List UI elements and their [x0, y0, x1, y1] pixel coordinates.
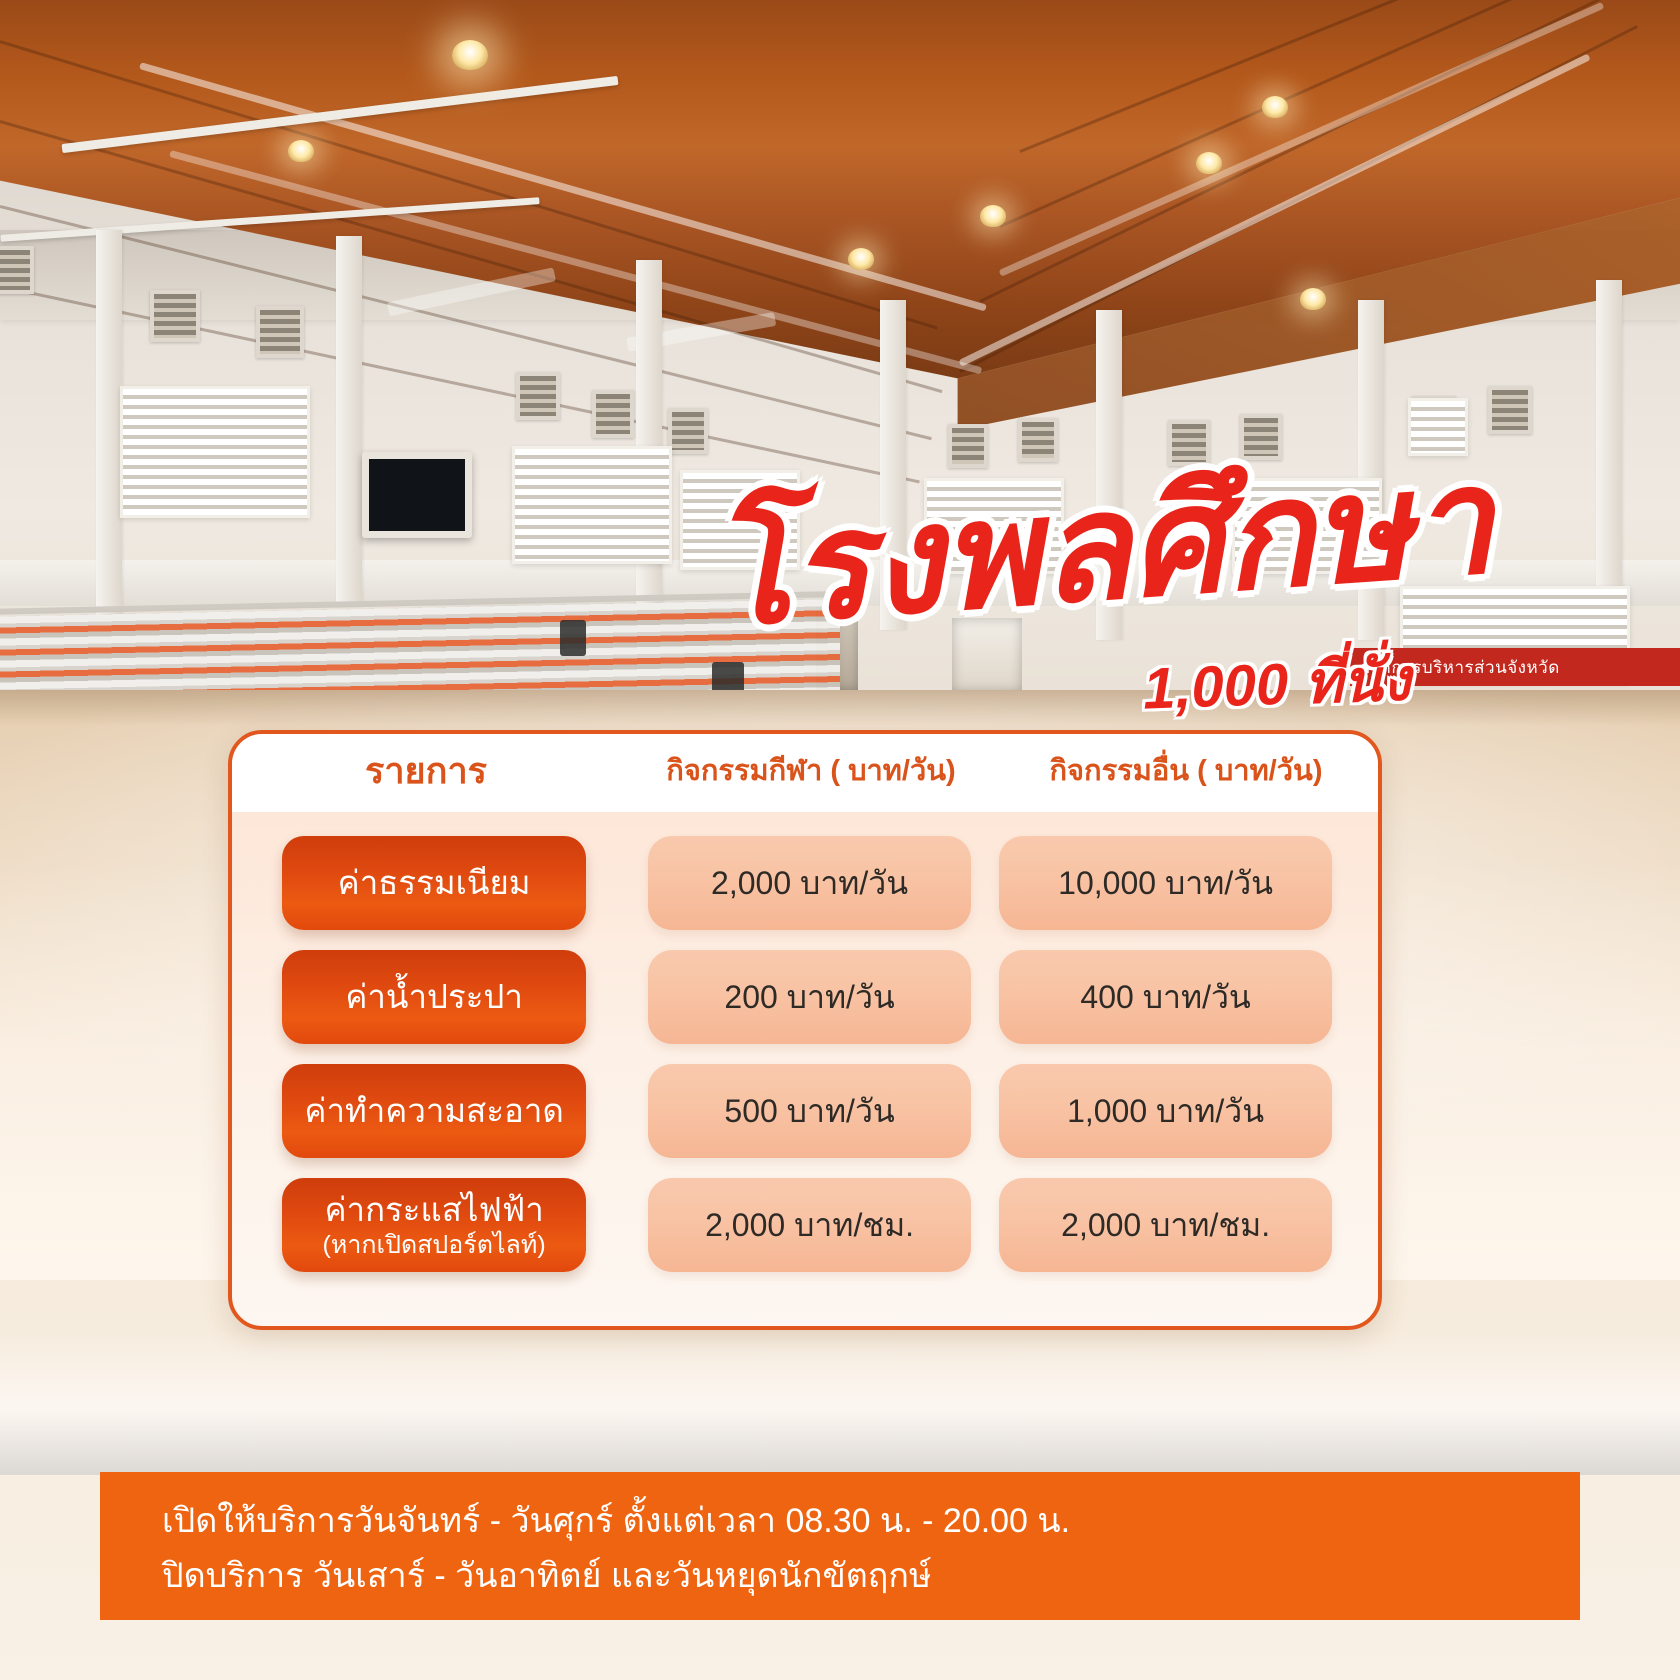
wall-vent — [948, 424, 988, 468]
table-header-sport: กิจกรรมกีฬา ( บาท/วัน) — [626, 747, 996, 793]
wall-vent — [516, 372, 560, 420]
table-header-item: รายการ — [228, 742, 626, 799]
footer-line-open-hours: เปิดให้บริการวันจันทร์ - วันศุกร์ ตั้งแต… — [162, 1494, 1580, 1549]
scoreboard-screen — [362, 452, 472, 538]
ceiling-lamp — [288, 140, 314, 162]
wall-column — [96, 230, 122, 620]
poster-root: องค์การบริหารส่วนจังหวัด โรงพลศึกษา 1,00… — [0, 0, 1680, 1680]
wall-column — [1358, 300, 1384, 640]
table-row: ค่าทำความสะอาด 500 บาท/วัน 1,000 บาท/วัน — [282, 1054, 1332, 1168]
row-label-pill: ค่าธรรมเนียม — [282, 836, 586, 930]
row-value-sport: 2,000 บาท/ชม. — [648, 1178, 971, 1272]
row-label-line2: (หากเปิดสปอร์ตไลท์) — [323, 1231, 546, 1260]
wall-vent — [1168, 420, 1210, 466]
footer-line-closed-days: ปิดบริการ วันเสาร์ - วันอาทิตย์ และวันหย… — [162, 1549, 1580, 1604]
table-body: ค่าธรรมเนียม 2,000 บาท/วัน 10,000 บาท/วั… — [232, 818, 1378, 1312]
wall-sign: องค์การบริหารส่วนจังหวัด — [1350, 648, 1680, 686]
row-label-line1: ค่าธรรมเนียม — [338, 864, 531, 902]
wall-column — [336, 236, 362, 606]
ceiling-lamp — [1262, 96, 1288, 118]
table-row: ค่าธรรมเนียม 2,000 บาท/วัน 10,000 บาท/วั… — [282, 826, 1332, 940]
row-value-sport: 200 บาท/วัน — [648, 950, 971, 1044]
wall-vent — [1240, 414, 1282, 460]
row-value-other: 400 บาท/วัน — [999, 950, 1332, 1044]
bottom-fade — [0, 1330, 1680, 1475]
wall-vent — [1018, 418, 1058, 462]
speaker — [560, 620, 586, 656]
wall-louver-window — [512, 446, 672, 564]
wall-louver-window — [120, 386, 310, 518]
ceiling-lamp — [980, 205, 1006, 227]
wall-column — [1596, 280, 1622, 630]
wall-louver-window — [1232, 478, 1382, 574]
row-label-pill: ค่าน้ำประปา — [282, 950, 586, 1044]
wall-louver-window — [924, 478, 1064, 574]
ceiling-lamp — [1300, 288, 1326, 310]
ceiling-lamp — [848, 248, 874, 270]
row-label-line1: ค่าทำความสะอาด — [304, 1092, 563, 1130]
wall-vent — [668, 408, 708, 454]
row-label-pill: ค่ากระแสไฟฟ้า (หากเปิดสปอร์ตไลท์) — [282, 1178, 586, 1272]
row-value-other: 10,000 บาท/วัน — [999, 836, 1332, 930]
service-hours-footer: เปิดให้บริการวันจันทร์ - วันศุกร์ ตั้งแต… — [100, 1472, 1580, 1620]
photo-roof-trusses — [0, 0, 1680, 430]
wall-louver-window — [1408, 398, 1468, 456]
wall-vent — [0, 246, 34, 294]
price-table-card: รายการ กิจกรรมกีฬา ( บาท/วัน) กิจกรรมอื่… — [228, 730, 1382, 1330]
row-value-other: 2,000 บาท/ชม. — [999, 1178, 1332, 1272]
row-value-other: 1,000 บาท/วัน — [999, 1064, 1332, 1158]
wall-vent — [256, 306, 304, 358]
table-header-row: รายการ กิจกรรมกีฬา ( บาท/วัน) กิจกรรมอื่… — [228, 730, 1382, 812]
doorway — [952, 618, 1022, 692]
ceiling-lamp — [452, 40, 488, 70]
row-label-pill: ค่าทำความสะอาด — [282, 1064, 586, 1158]
wall-column — [1096, 310, 1122, 640]
row-value-sport: 2,000 บาท/วัน — [648, 836, 971, 930]
wall-column — [880, 300, 906, 630]
wall-louver-window — [680, 470, 800, 570]
table-row: ค่าน้ำประปา 200 บาท/วัน 400 บาท/วัน — [282, 940, 1332, 1054]
row-value-sport: 500 บาท/วัน — [648, 1064, 971, 1158]
wall-vent — [592, 390, 634, 438]
wall-vent — [1488, 386, 1532, 434]
row-label-line1: ค่ากระแสไฟฟ้า — [324, 1191, 543, 1229]
table-header-other: กิจกรรมอื่น ( บาท/วัน) — [996, 747, 1376, 793]
ceiling-lamp — [1196, 152, 1222, 174]
wall-vent — [150, 290, 200, 342]
row-label-line1: ค่าน้ำประปา — [345, 978, 523, 1016]
table-row: ค่ากระแสไฟฟ้า (หากเปิดสปอร์ตไลท์) 2,000 … — [282, 1168, 1332, 1282]
